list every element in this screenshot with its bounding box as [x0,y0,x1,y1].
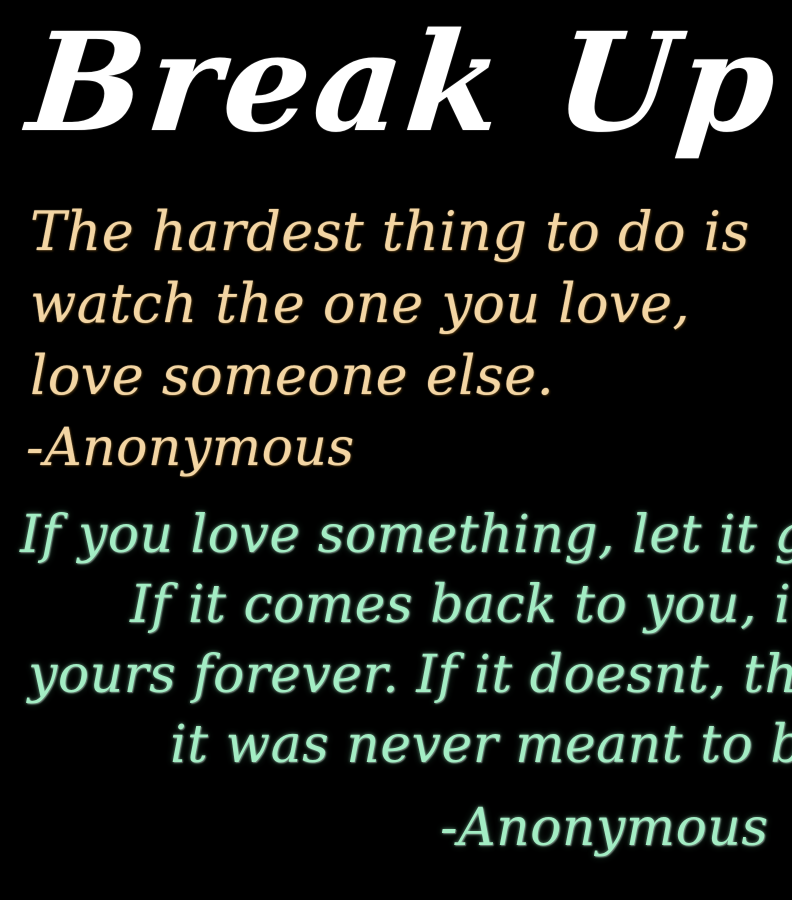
mint-quote-line-4: it was never meant to be. [0,710,792,780]
mint-quote-line-2: If it comes back to you, its [0,570,792,640]
quote-poster: Break Up The hardest thing to do is watc… [0,0,792,900]
mint-quote-line-3: yours forever. If it doesnt, then [0,640,792,710]
mint-quote-attribution: -Anonymous [0,780,792,876]
mint-quote-block: If you love something, let it go. If it … [0,500,792,876]
title-container: Break Up [0,0,792,200]
gold-quote-line-1: The hardest thing to do is [0,196,792,268]
gold-quote-line-3: love someone else. [0,340,792,412]
mint-quote-line-1: If you love something, let it go. [0,500,792,570]
gold-quote-line-2: watch the one you love, [0,268,792,340]
page-title: Break Up [22,8,778,158]
gold-quote-block: The hardest thing to do is watch the one… [0,196,792,484]
gold-quote-attribution: -Anonymous [0,412,792,484]
